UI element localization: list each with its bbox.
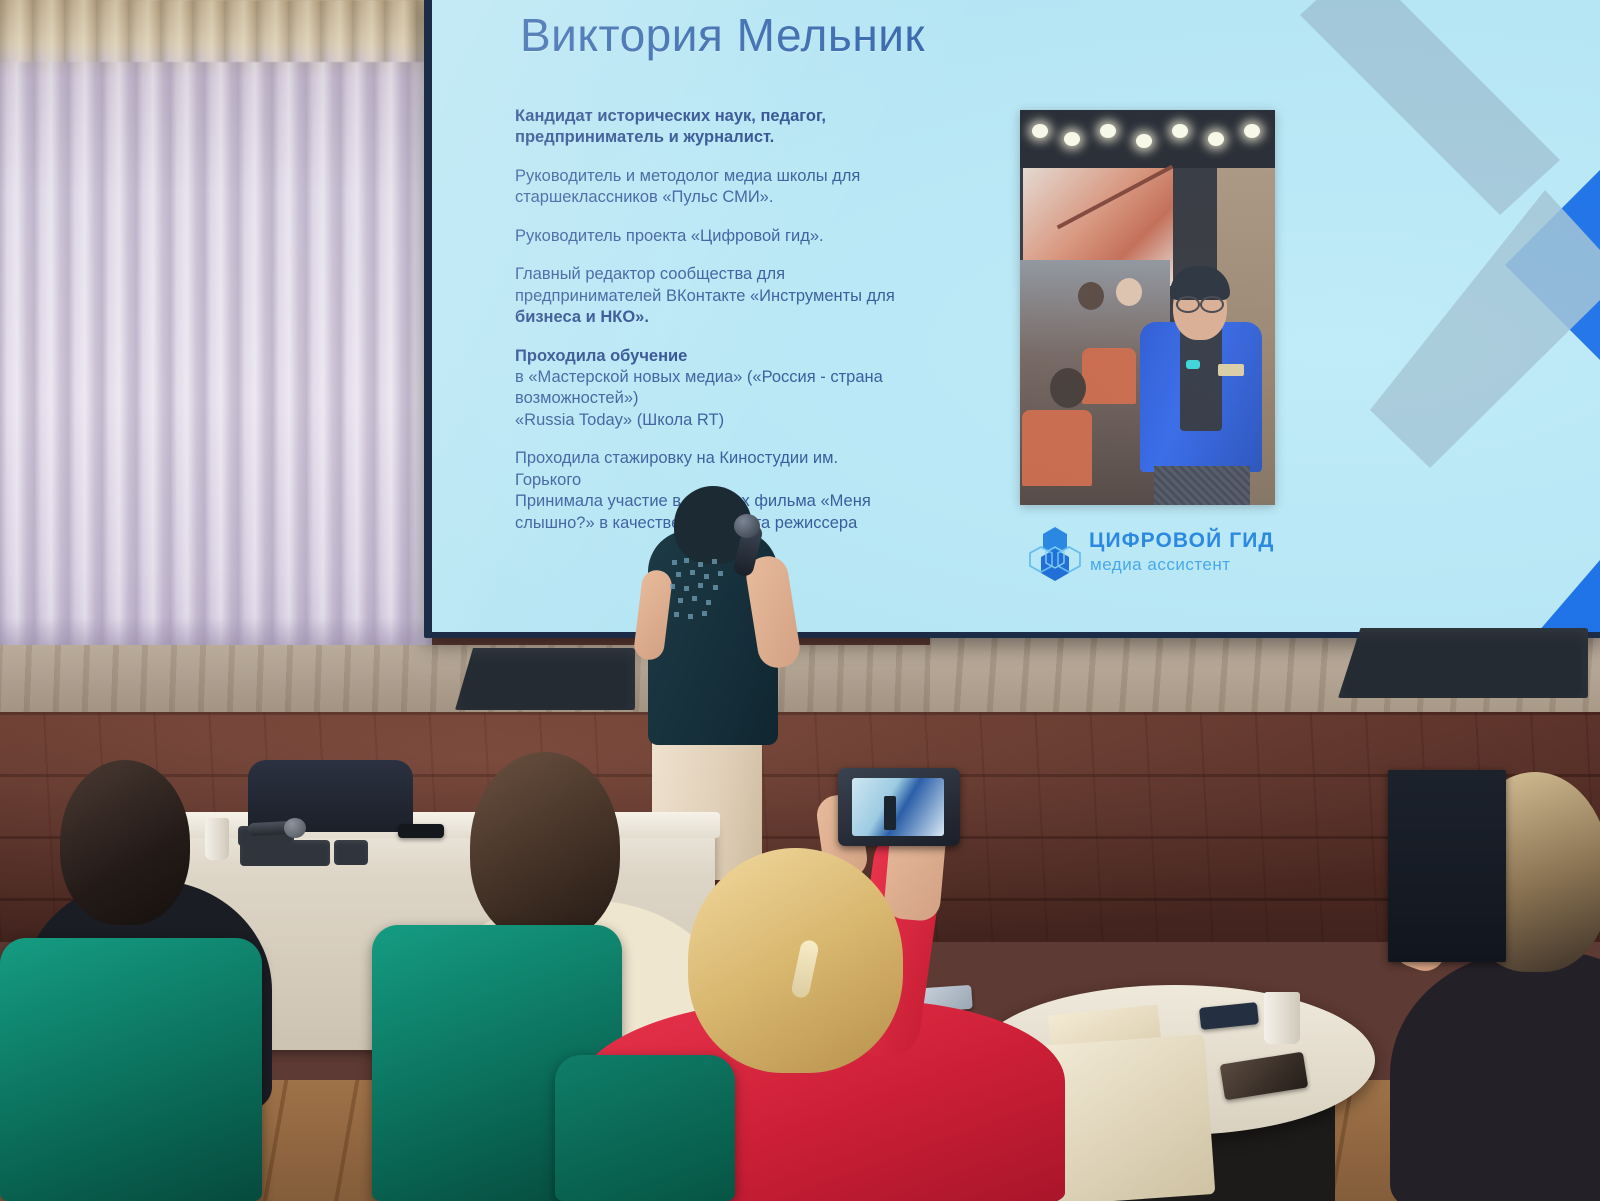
presentation-slide: Виктория Мельник Кандидат исторических н… (432, 0, 1600, 632)
stage-monitor-speaker-left (455, 648, 635, 710)
paragraph-4-line-2: предпринимателей ВКонтакте «Инструменты … (515, 287, 895, 305)
photo-audience-head (1116, 278, 1142, 306)
slide-chevron-decoration (1300, 0, 1600, 632)
photo-seat (1022, 410, 1092, 486)
slide-paragraph-3: Руководитель проекта «Цифровой гид». (515, 226, 985, 247)
slide-body-text: Кандидат исторических наук, педагог, пре… (515, 106, 985, 551)
slide-paragraph-2: Руководитель и методолог медиа школы для… (515, 166, 985, 209)
paragraph-5-line-2: возможностей») (515, 389, 638, 407)
phone-screen-preview (852, 778, 944, 836)
photo-speaker-figure (1140, 260, 1262, 505)
photo-audience-head (1078, 282, 1104, 310)
slide-title: Виктория Мельник (520, 8, 925, 62)
logo-secondary-text: медиа ассистент (1090, 555, 1231, 575)
paragraph-4-line-3: бизнеса и НКО». (515, 308, 649, 326)
paper-cup (205, 818, 229, 860)
phone-preview-figure (884, 796, 896, 830)
curtain-hem (0, 618, 432, 648)
photo-spotlight (1244, 124, 1260, 138)
photo-spotlight (1136, 134, 1152, 148)
logo-primary-text: ЦИФРОВОЙ ГИД (1089, 529, 1275, 553)
photo-speaker-glasses-right (1200, 296, 1224, 313)
slide-paragraph-5: Проходила обучение в «Мастерской новых м… (515, 346, 985, 432)
wall-panel-right (1388, 770, 1506, 962)
stage-monitor-speaker-right (1338, 628, 1588, 698)
paragraph-2-line-1: Руководитель и методолог медиа школы для (515, 167, 860, 185)
photo-seat (1082, 348, 1136, 404)
photo-spotlight (1064, 132, 1080, 146)
microphone-head-icon (734, 514, 760, 538)
microphone-head (284, 818, 306, 838)
photo-speaker-pin (1186, 360, 1200, 369)
slide-paragraph-4: Главный редактор сообщества для предприн… (515, 264, 985, 328)
microphone-case-small (334, 840, 368, 865)
photo-spotlight (1172, 124, 1188, 138)
paragraph-5-heading: Проходила обучение (515, 347, 687, 365)
chair-third (555, 1055, 735, 1201)
chevron-icon (1300, 0, 1600, 632)
photo-speaker-glasses-left (1176, 296, 1200, 313)
paragraph-6-line-2: Горького (515, 471, 581, 489)
chair-left (0, 938, 262, 1201)
speaker-portrait-photo (1020, 110, 1275, 505)
smartphone-on-table (398, 824, 444, 838)
paragraph-4-line-1: Главный редактор сообщества для (515, 265, 785, 283)
photo-spotlight (1100, 124, 1116, 138)
presentation-room-photo: Виктория Мельник Кандидат исторических н… (0, 0, 1600, 1201)
photo-speaker-shirt (1180, 326, 1222, 431)
paragraph-1-line-1: Кандидат исторических наук, педагог, (515, 107, 826, 125)
photo-spotlight (1032, 124, 1048, 138)
photo-speaker-badge (1218, 364, 1244, 376)
curtain-pleat-header (0, 0, 432, 62)
paragraph-2-line-2: старшеклассников «Пульс СМИ». (515, 188, 773, 206)
photo-audience-head (1050, 368, 1086, 408)
project-logo: ЦИФРОВОЙ ГИД медиа ассистент (1027, 525, 1277, 587)
audience-left-head (60, 760, 190, 925)
shirt-pattern (668, 556, 738, 631)
hexagon-person-icon (1027, 525, 1085, 583)
slide-paragraph-1: Кандидат исторических наук, педагог, пре… (515, 106, 985, 149)
blonde-hair (688, 848, 903, 1073)
paragraph-3-line-1: Руководитель проекта «Цифровой гид». (515, 227, 824, 245)
photo-speaker-hair (1170, 266, 1230, 300)
photo-speaker-trousers (1154, 466, 1250, 505)
paper-cup-round-table (1264, 992, 1300, 1044)
paragraph-5-line-1: в «Мастерской новых медиа» («Россия - ст… (515, 368, 883, 386)
paragraph-5-line-3: «Russia Today» (Школа RT) (515, 411, 724, 429)
paragraph-1-line-2: предприниматель и журналист. (515, 128, 774, 146)
stage-curtain (0, 0, 432, 648)
paragraph-6-line-1: Проходила стажировку на Киностудии им. (515, 449, 838, 467)
audience-second-head (470, 752, 620, 942)
photo-spotlight (1208, 132, 1224, 146)
